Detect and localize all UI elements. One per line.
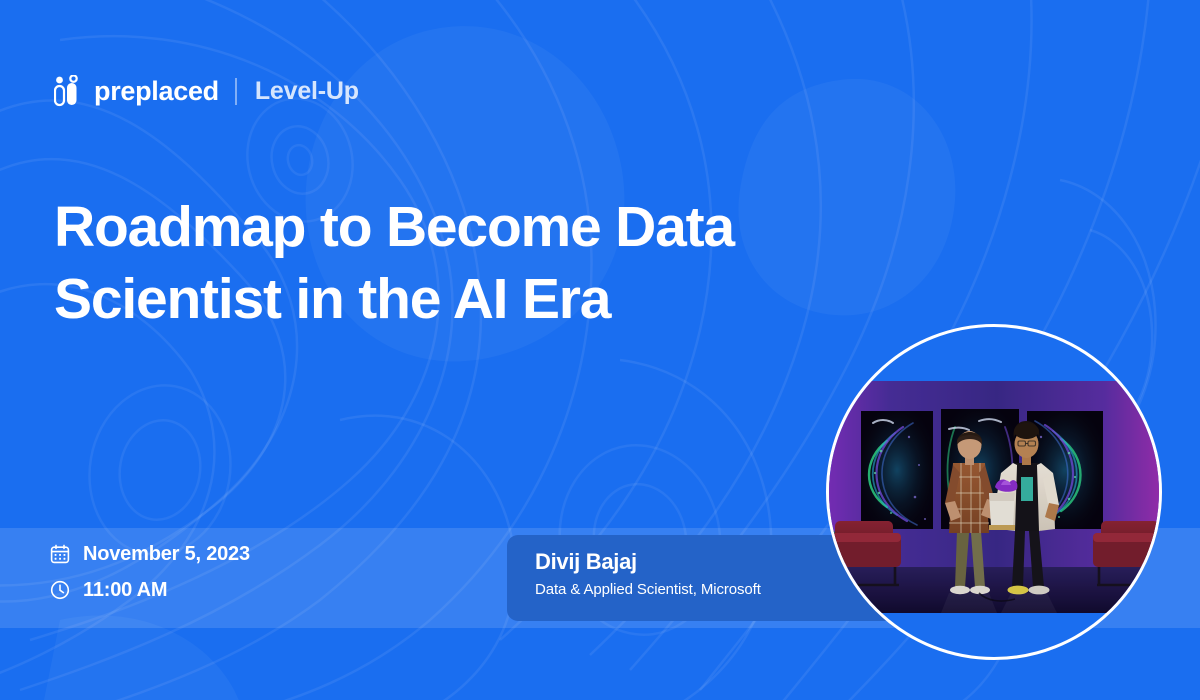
- logo-divider: [235, 78, 237, 105]
- speaker-photo-circle: [826, 324, 1162, 660]
- webinar-banner: preplaced Level-Up Roadmap to Become Dat…: [0, 0, 1200, 700]
- people-logo-icon: [54, 75, 80, 107]
- event-date: November 5, 2023: [83, 544, 250, 564]
- event-meta: November 5, 2023 11:00 AM: [50, 541, 250, 603]
- calendar-icon: [50, 544, 70, 564]
- speaker-photo: [829, 381, 1162, 613]
- event-time-row: 11:00 AM: [50, 577, 250, 603]
- clock-icon: [50, 580, 70, 600]
- page-title: Roadmap to Become Data Scientist in the …: [54, 192, 754, 336]
- brand-logo[interactable]: preplaced Level-Up: [54, 70, 359, 112]
- event-time: 11:00 AM: [83, 580, 167, 600]
- product-name: Level-Up: [255, 79, 359, 104]
- brand-name: preplaced: [94, 78, 219, 105]
- event-date-row: November 5, 2023: [50, 541, 250, 567]
